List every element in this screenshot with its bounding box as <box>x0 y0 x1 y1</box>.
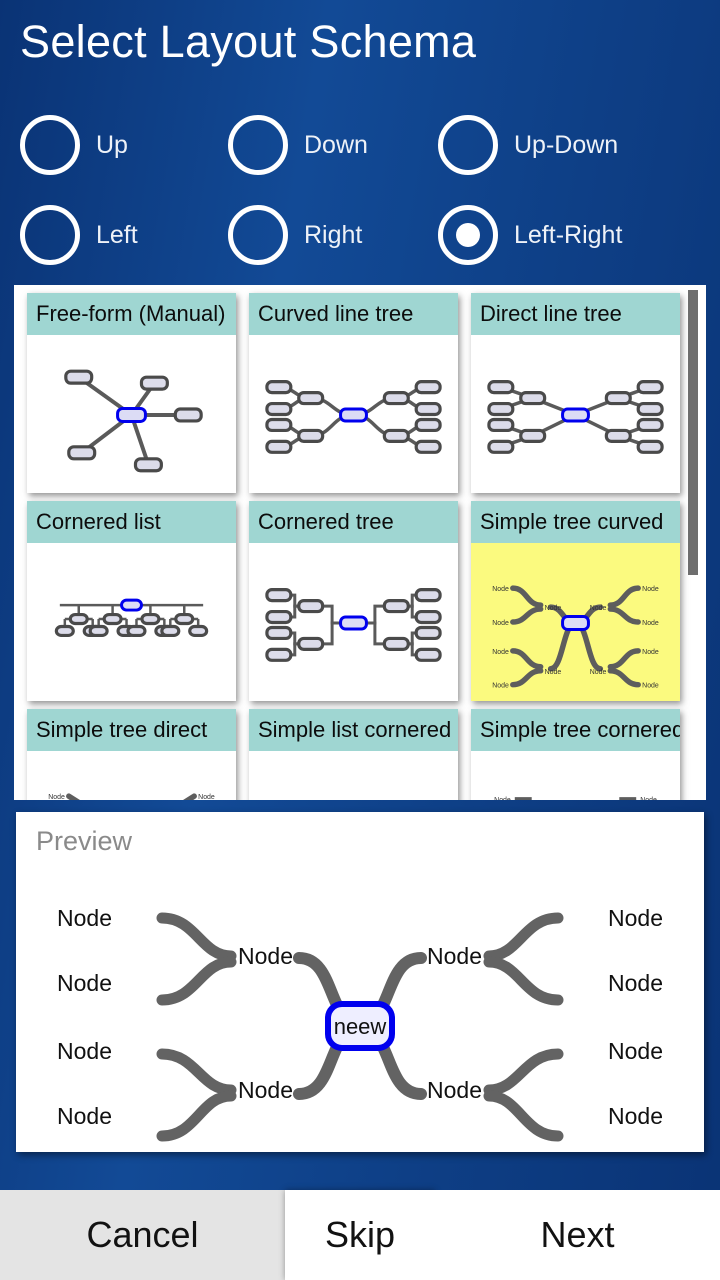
schema-tile[interactable]: Curved line tree <box>249 293 458 493</box>
svg-text:Node: Node <box>492 586 509 593</box>
schema-tile[interactable]: Free-form (Manual) <box>27 293 236 493</box>
schema-tile-label: Simple tree curved <box>471 501 680 543</box>
preview-panel: Preview Node N <box>16 812 704 1152</box>
radio-circle-icon[interactable] <box>228 205 288 265</box>
radio-option-left[interactable]: Left <box>0 205 210 265</box>
radio-option-right[interactable]: Right <box>210 205 420 265</box>
schema-tile-list: Free-form (Manual)Curved line treeDirect… <box>14 285 706 800</box>
preview-node-label: Node <box>57 1038 112 1064</box>
schema-tile-thumbnail <box>27 543 236 701</box>
svg-text:Node: Node <box>642 620 659 627</box>
preview-node-label: Node <box>57 970 112 996</box>
schema-tile-thumbnail: NodeNodeNodeNodeNodeNodeNodeNodeNodeNode… <box>471 543 680 701</box>
schema-tile-thumbnail: NodeNodeNodeNodeNodeNodeNodeNodeNodeNode… <box>471 751 680 800</box>
radio-label: Up <box>96 131 128 160</box>
svg-text:Node: Node <box>642 683 659 690</box>
schema-tile[interactable]: Simple tree corneredNodeNodeNodeNodeNode… <box>471 709 680 800</box>
preview-node-label: Node <box>238 1077 293 1103</box>
preview-node-label: Node <box>608 1103 663 1129</box>
grid-scrollbar-thumb[interactable] <box>688 290 698 575</box>
svg-text:Node: Node <box>492 620 509 627</box>
radio-circle-icon[interactable] <box>20 205 80 265</box>
schema-tile[interactable]: Simple list corneredNodeNodeNodeNode <box>249 709 458 800</box>
direction-row-2: Left Right Left-Right <box>0 190 720 280</box>
radio-circle-icon[interactable] <box>228 115 288 175</box>
schema-tile[interactable]: Direct line tree <box>471 293 680 493</box>
schema-tile-thumbnail <box>249 543 458 701</box>
schema-tile-thumbnail <box>471 335 680 493</box>
schema-tile-thumbnail <box>27 335 236 493</box>
schema-tile-label: Free-form (Manual) <box>27 293 236 335</box>
schema-tile[interactable]: Simple tree curvedNodeNodeNodeNodeNodeNo… <box>471 501 680 701</box>
cancel-button[interactable]: Cancel <box>0 1190 285 1280</box>
schema-tile-label: Simple tree direct <box>27 709 236 751</box>
schema-tile-thumbnail: NodeNodeNodeNode <box>249 751 458 800</box>
svg-text:Node: Node <box>545 669 562 676</box>
schema-tile-thumbnail <box>249 335 458 493</box>
svg-text:Node: Node <box>640 797 657 800</box>
radio-option-left-right[interactable]: Left-Right <box>420 205 700 265</box>
grid-scrollbar-track[interactable] <box>692 285 702 800</box>
radio-label: Right <box>304 221 362 250</box>
svg-text:Node: Node <box>590 605 607 612</box>
preview-label: Preview <box>36 826 132 857</box>
schema-tile-thumbnail: NodeNodeNodeNodeNodeNodeNodeNodeNodeNode… <box>27 751 236 800</box>
radio-option-down[interactable]: Down <box>210 115 420 175</box>
preview-node-label: Node <box>608 905 663 931</box>
radio-label: Left <box>96 221 138 250</box>
schema-tile[interactable]: Cornered tree <box>249 501 458 701</box>
schema-tile-label: Cornered tree <box>249 501 458 543</box>
svg-text:Node: Node <box>642 586 659 593</box>
radio-circle-icon[interactable] <box>20 115 80 175</box>
preview-node-label: Node <box>427 1077 482 1103</box>
radio-option-up[interactable]: Up <box>0 115 210 175</box>
skip-button[interactable]: Skip <box>285 1190 435 1280</box>
direction-row-1: Up Down Up-Down <box>0 100 720 190</box>
svg-text:Node: Node <box>494 797 511 800</box>
preview-mindmap: Node Node Node Node Node Node Node Node … <box>16 858 704 1148</box>
page-title: Select Layout Schema <box>20 16 476 68</box>
preview-node-label: Node <box>57 905 112 931</box>
schema-tile-label: Curved line tree <box>249 293 458 335</box>
next-button[interactable]: Next <box>435 1190 720 1280</box>
preview-node-label: Node <box>238 943 293 969</box>
schema-tile-label: Simple tree cornered <box>471 709 680 751</box>
radio-option-up-down[interactable]: Up-Down <box>420 115 700 175</box>
schema-tile-label: Direct line tree <box>471 293 680 335</box>
schema-grid-panel[interactable]: Free-form (Manual)Curved line treeDirect… <box>14 285 706 800</box>
svg-text:Node: Node <box>48 794 65 800</box>
radio-circle-selected-icon[interactable] <box>438 205 498 265</box>
svg-text:Node: Node <box>545 605 562 612</box>
layout-schema-wizard: Select Layout Schema Up Down Up-Down Lef… <box>0 0 720 1280</box>
wizard-button-bar: Cancel Skip Next <box>0 1190 720 1280</box>
schema-tile[interactable]: Cornered list <box>27 501 236 701</box>
svg-text:Node: Node <box>492 649 509 656</box>
svg-text:Node: Node <box>642 649 659 656</box>
radio-label: Left-Right <box>514 221 622 250</box>
preview-node-label: Node <box>608 970 663 996</box>
svg-text:Node: Node <box>198 794 215 800</box>
preview-node-label: Node <box>427 943 482 969</box>
preview-root-label: neew <box>334 1014 387 1039</box>
svg-text:Node: Node <box>492 683 509 690</box>
radio-label: Down <box>304 131 368 160</box>
svg-text:Node: Node <box>590 669 607 676</box>
direction-radio-group: Up Down Up-Down Left Right Left-Rig <box>0 100 720 280</box>
radio-label: Up-Down <box>514 131 618 160</box>
preview-node-label: Node <box>608 1038 663 1064</box>
schema-tile-label: Simple list cornered <box>249 709 458 751</box>
preview-node-label: Node <box>57 1103 112 1129</box>
schema-tile[interactable]: Simple tree directNodeNodeNodeNodeNodeNo… <box>27 709 236 800</box>
schema-tile-label: Cornered list <box>27 501 236 543</box>
radio-circle-icon[interactable] <box>438 115 498 175</box>
